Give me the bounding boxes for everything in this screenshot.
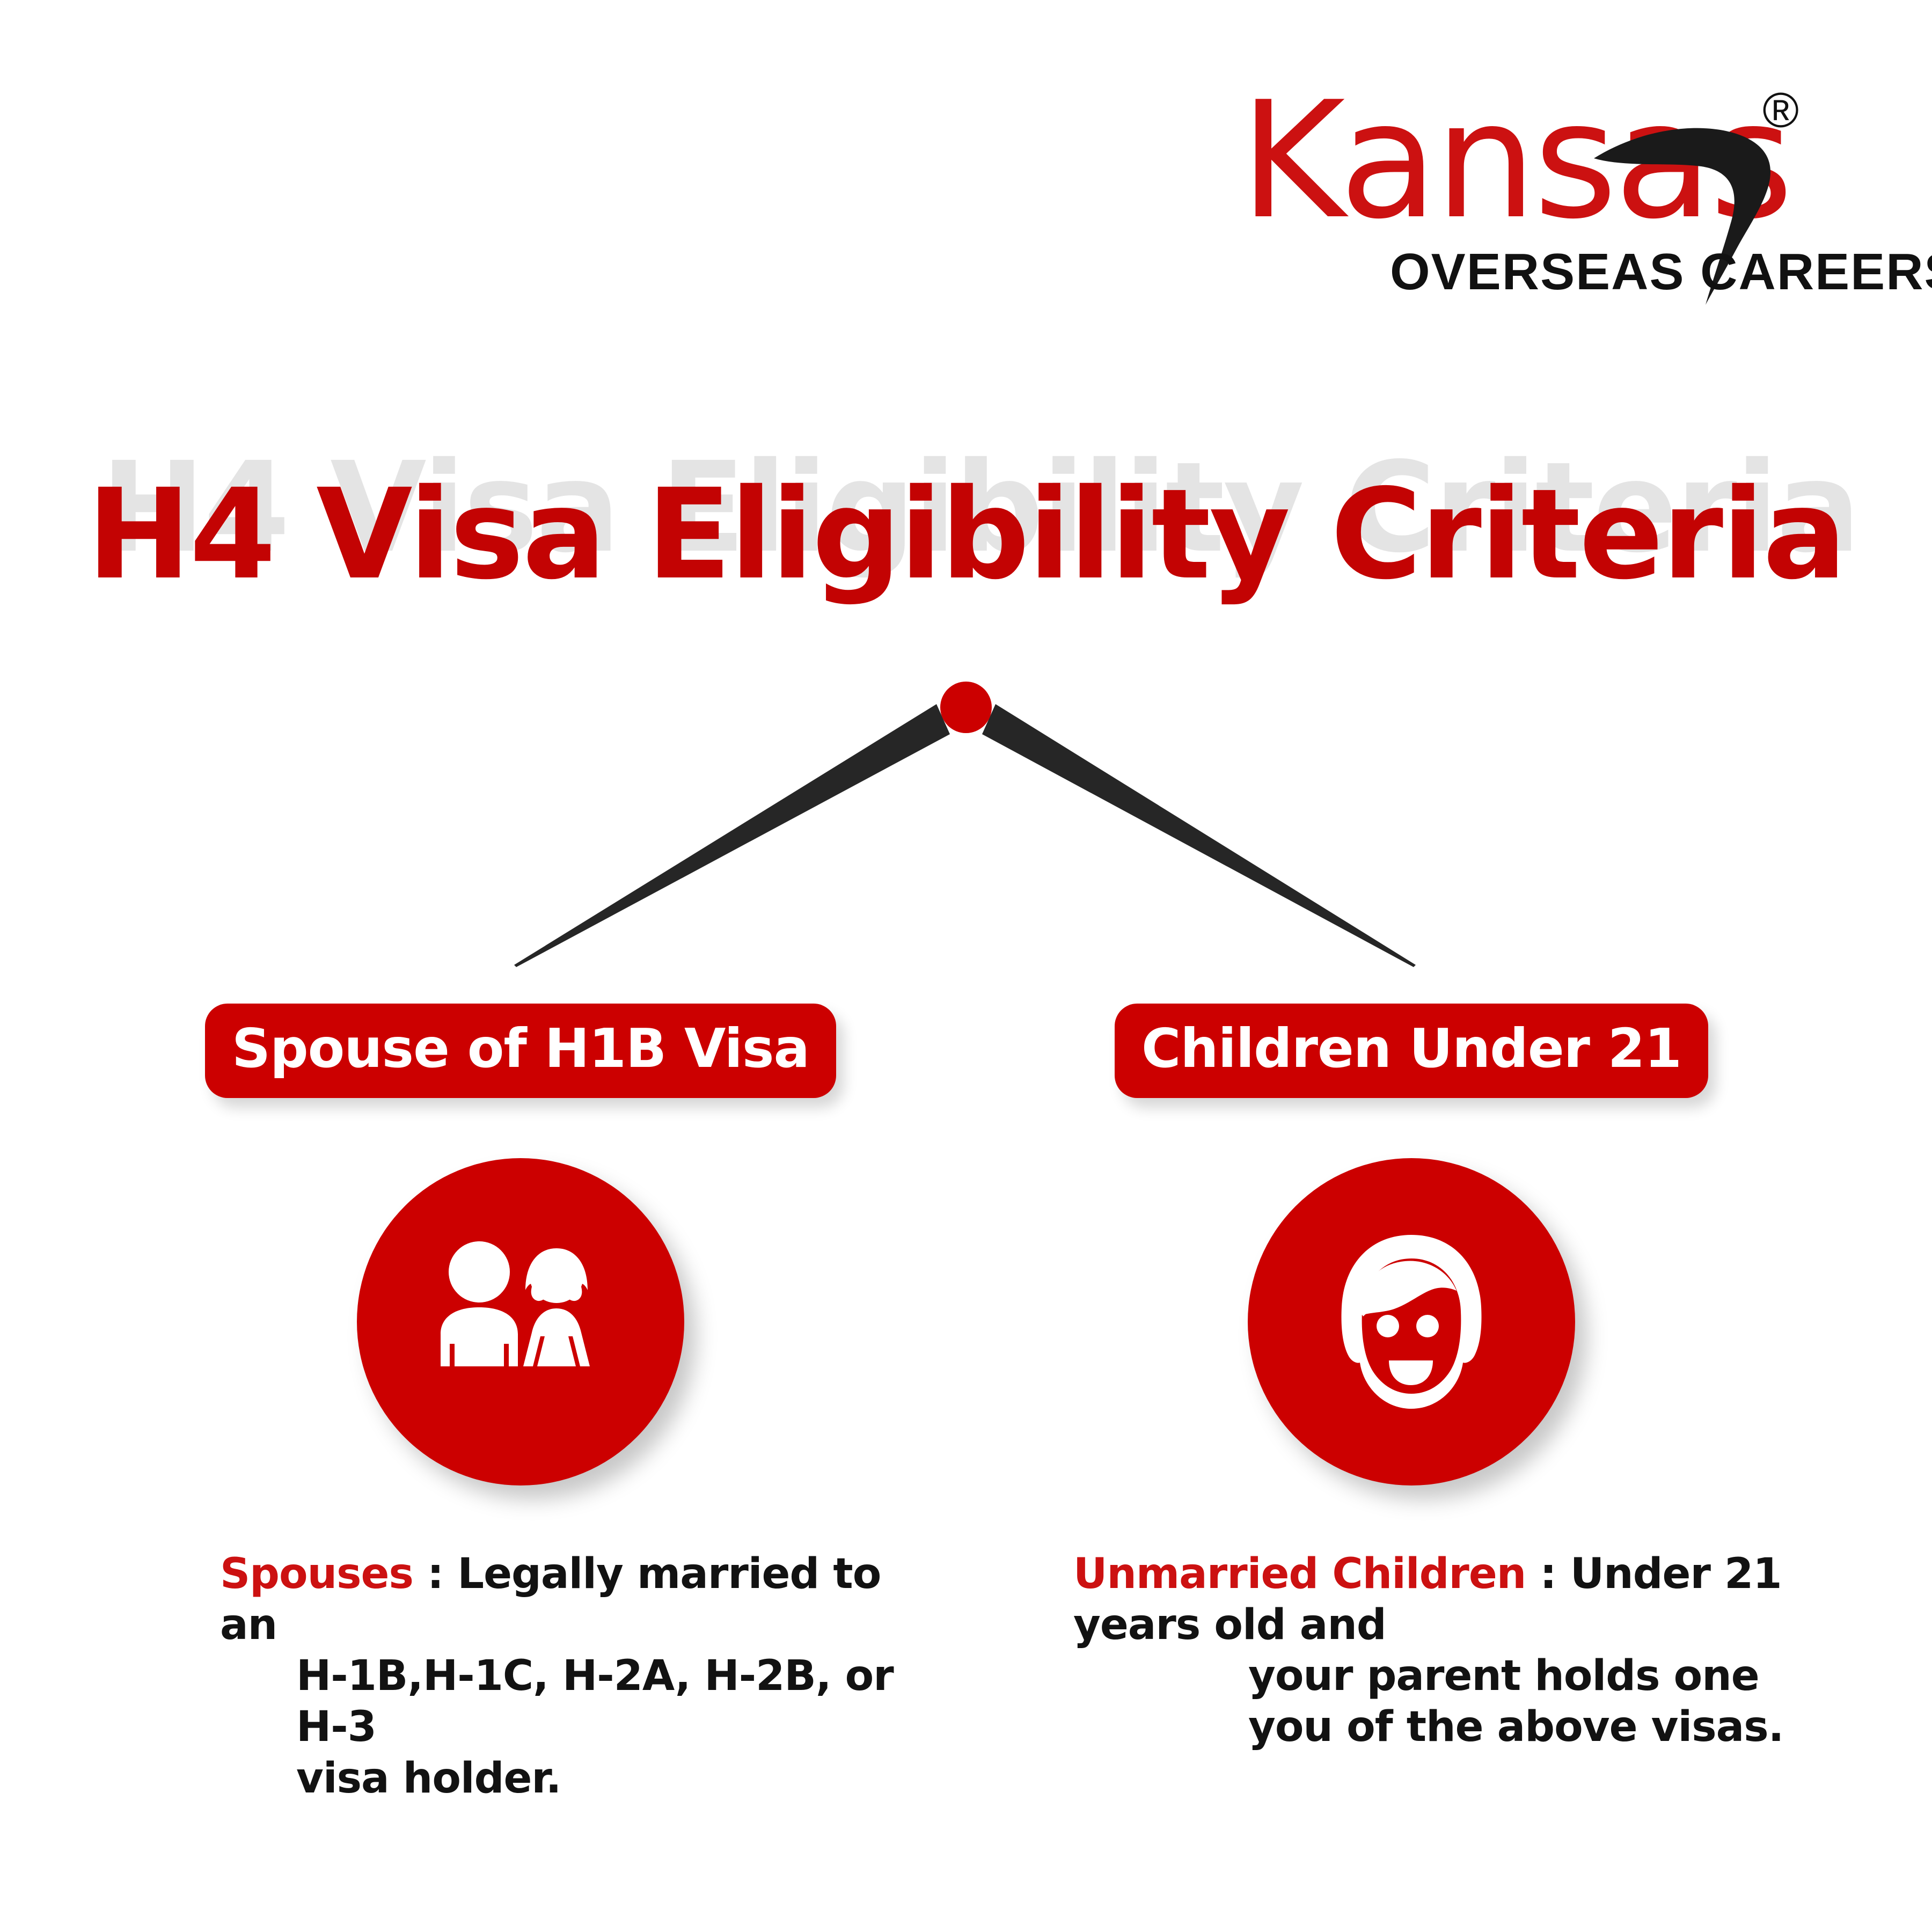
page-title-text: H4 Visa Eligibility Criteria bbox=[0, 472, 1932, 597]
branch-connector bbox=[0, 665, 1932, 998]
couple-icon bbox=[432, 1239, 609, 1405]
caption-lead-spouse: Spouses bbox=[220, 1550, 413, 1598]
icon-circle-spouse bbox=[357, 1158, 684, 1485]
child-face-icon bbox=[1326, 1231, 1497, 1413]
caption-line-1: H-1B,H-1C, H-2A, H-2B, or H-3 bbox=[220, 1651, 923, 1753]
connector-line-right bbox=[982, 704, 1416, 967]
connector-node-dot bbox=[940, 682, 992, 733]
page-title: H4 Visa Eligibility Criteria H4 Visa Eli… bbox=[0, 445, 1932, 623]
caption-separator: : bbox=[1526, 1550, 1570, 1598]
caption-line-1: your parent holds one bbox=[1073, 1651, 1814, 1702]
registered-mark: ® bbox=[1762, 86, 1799, 135]
branch-children: Children Under 21 Unmarried Children : U… bbox=[1009, 1004, 1814, 1753]
icon-circle-children bbox=[1248, 1158, 1575, 1485]
caption-spouse: Spouses : Legally married to an H-1B,H-1… bbox=[118, 1549, 923, 1804]
caption-lead-children: Unmarried Children bbox=[1073, 1550, 1526, 1598]
branch-spouse: Spouse of H1B Visa Spouses : Legally mar… bbox=[118, 1004, 923, 1804]
branch-label-spouse[interactable]: Spouse of H1B Visa bbox=[205, 1004, 836, 1098]
caption-line-2: visa holder. bbox=[220, 1753, 923, 1804]
brand-tagline: OVERSEAS CAREERS bbox=[1390, 243, 1932, 302]
caption-separator: : bbox=[413, 1550, 458, 1598]
brand-logo: Kansas ® OVERSEAS CAREERS bbox=[1240, 80, 1809, 306]
caption-children: Unmarried Children : Under 21 years old … bbox=[1009, 1549, 1814, 1753]
branch-label-children[interactable]: Children Under 21 bbox=[1115, 1004, 1708, 1098]
connector-line-left bbox=[514, 704, 950, 967]
caption-line-2: you of the above visas. bbox=[1073, 1702, 1814, 1753]
